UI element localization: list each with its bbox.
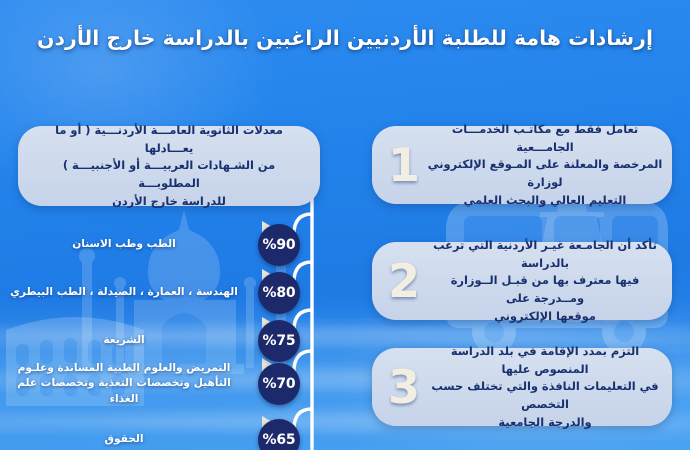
grades-header-card: معدلات الثانوية العامـــة الأردنـــية ( … [18, 126, 320, 206]
step-text-2: تأكد أن الجامـعة غيـر الأردنية التي ترغب… [422, 237, 664, 325]
percent-badge-80: %80 [258, 272, 300, 314]
infographic-poster: إرشادات هامة للطلبة الأردنيين الراغبين ب… [0, 0, 690, 450]
requirement-label-70: التمريض والعلوم الطبية المساندة وعلـوم ا… [0, 361, 258, 407]
page-title: إرشادات هامة للطلبة الأردنيين الراغبين ب… [37, 26, 653, 52]
percent-badge-75: %75 [258, 320, 300, 362]
grades-header-text: معدلات الثانوية العامـــة الأردنـــية ( … [34, 122, 304, 210]
requirement-row-75: %75 الشريعة [0, 320, 300, 362]
percent-badge-90: %90 [258, 224, 300, 266]
requirement-row-65: %65 الحقوق [0, 419, 300, 450]
requirement-label-90: الطب وطب الاسنان [0, 237, 258, 252]
step-card-2: تأكد أن الجامـعة غيـر الأردنية التي ترغب… [372, 242, 672, 320]
step-card-3: التزم بمدد الإقامة في بلد الدراسة المنصو… [372, 348, 672, 426]
requirement-row-80: %80 الهندسة ، العمارة ، الصيدلة ، الطب ا… [0, 272, 300, 314]
requirement-label-75: الشريعة [0, 333, 258, 348]
percent-badge-65: %65 [258, 419, 300, 450]
percent-badge-70: %70 [258, 363, 300, 405]
requirement-row-90: %90 الطب وطب الاسنان [0, 224, 300, 266]
step-number-2: 2 [386, 260, 422, 302]
requirement-row-70: %70 التمريض والعلوم الطبية المساندة وعلـ… [0, 361, 300, 407]
step-number-1: 1 [386, 144, 422, 186]
step-text-1: تعامل فقط مع مكاتـب الخدمـــات الجامـــع… [422, 121, 664, 209]
step-card-1: تعامل فقط مع مكاتـب الخدمـــات الجامـــع… [372, 126, 672, 204]
step-number-3: 3 [386, 366, 422, 408]
title-container: إرشادات هامة للطلبة الأردنيين الراغبين ب… [0, 26, 690, 52]
requirement-label-80: الهندسة ، العمارة ، الصيدلة ، الطب البيط… [0, 285, 258, 300]
step-text-3: التزم بمدد الإقامة في بلد الدراسة المنصو… [422, 343, 664, 431]
requirement-label-65: الحقوق [0, 432, 258, 447]
